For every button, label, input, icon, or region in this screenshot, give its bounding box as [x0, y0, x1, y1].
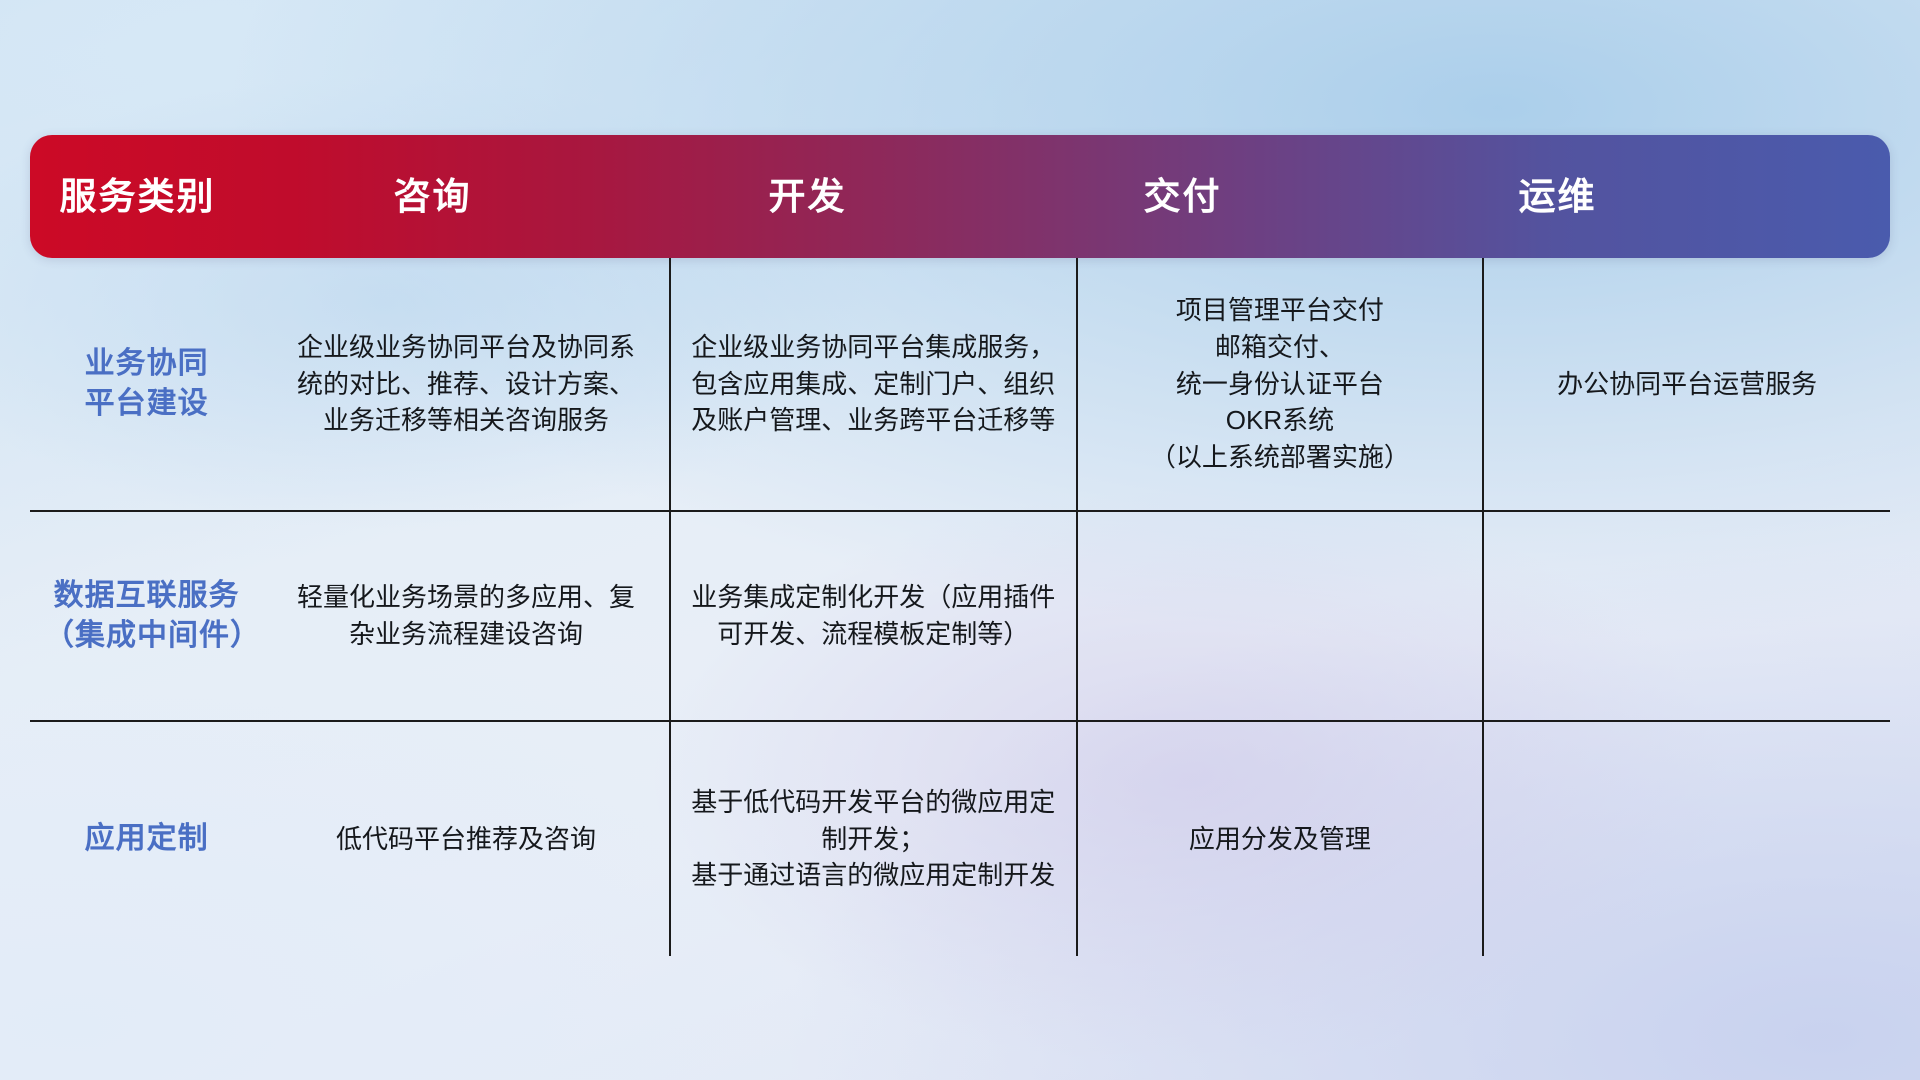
cell-development: 业务集成定制化开发（应用插件 可开发、流程模板定制等） [670, 511, 1077, 721]
table-row: 应用定制 低代码平台推荐及咨询 基于低代码开发平台的微应用定 制开发； 基于通过… [30, 721, 1890, 956]
table-header-row: 服务类别 咨询 开发 交付 运维 [30, 135, 1890, 258]
column-header-delivery: 交付 [995, 178, 1370, 215]
cell-operations: 办公协同平台运营服务 [1483, 258, 1890, 511]
cell-consulting: 企业级业务协同平台及协同系 统的对比、推荐、设计方案、 业务迁移等相关咨询服务 [263, 258, 670, 511]
cell-operations [1483, 511, 1890, 721]
cell-operations [1483, 721, 1890, 956]
table-body: 业务协同 平台建设 企业级业务协同平台及协同系 统的对比、推荐、设计方案、 业务… [30, 258, 1890, 956]
row-category-label: 业务协同 平台建设 [30, 258, 263, 511]
cell-consulting: 轻量化业务场景的多应用、复 杂业务流程建设咨询 [263, 511, 670, 721]
row-category-label: 数据互联服务 （集成中间件） [30, 511, 263, 721]
cell-delivery: 项目管理平台交付 邮箱交付、 统一身份认证平台 OKR系统 （以上系统部署实施） [1077, 258, 1484, 511]
column-header-development: 开发 [620, 178, 995, 215]
cell-delivery: 应用分发及管理 [1077, 721, 1484, 956]
cell-delivery [1077, 511, 1484, 721]
cell-consulting: 低代码平台推荐及咨询 [263, 721, 670, 956]
table-row: 业务协同 平台建设 企业级业务协同平台及协同系 统的对比、推荐、设计方案、 业务… [30, 258, 1890, 511]
cell-development: 企业级业务协同平台集成服务， 包含应用集成、定制门户、组织 及账户管理、业务跨平… [670, 258, 1077, 511]
column-header-consulting: 咨询 [245, 178, 620, 215]
cell-development: 基于低代码开发平台的微应用定 制开发； 基于通过语言的微应用定制开发 [670, 721, 1077, 956]
service-matrix-table: 服务类别 咨询 开发 交付 运维 业务协同 平台建设 企业级业务协同平台及协同系… [30, 135, 1890, 960]
column-header-category: 服务类别 [30, 178, 245, 215]
row-category-label: 应用定制 [30, 721, 263, 956]
table-row: 数据互联服务 （集成中间件） 轻量化业务场景的多应用、复 杂业务流程建设咨询 业… [30, 511, 1890, 721]
column-header-operations: 运维 [1370, 178, 1745, 215]
